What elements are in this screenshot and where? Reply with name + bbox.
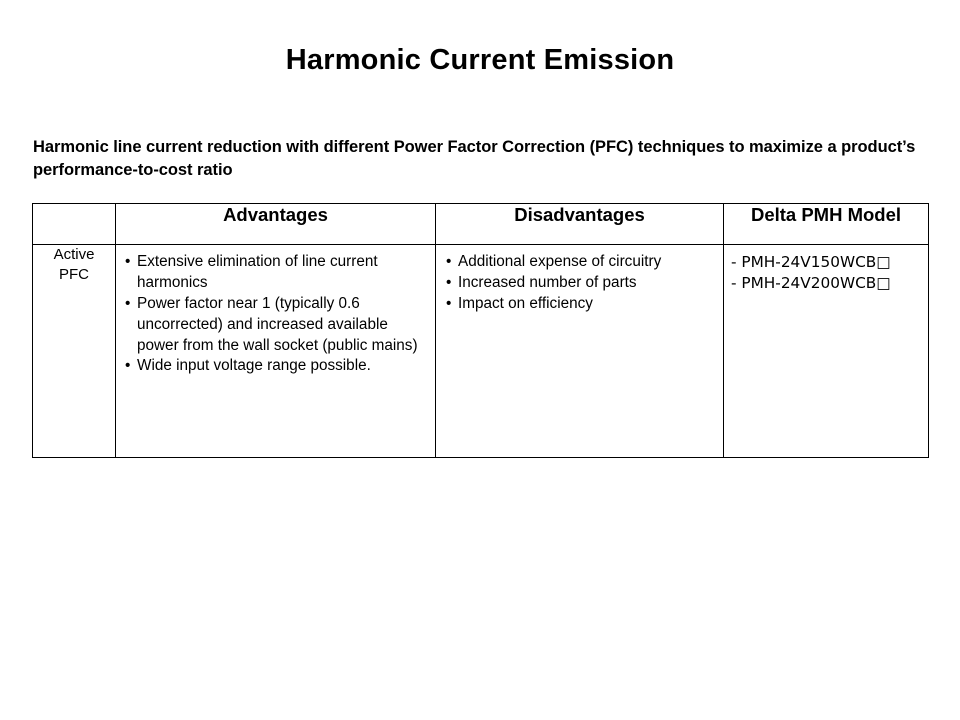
- header-cell-disadvantages: Disadvantages: [436, 204, 724, 245]
- list-item: Increased number of parts: [446, 273, 717, 294]
- cell-disadvantages: Additional expense of circuitry Increase…: [436, 245, 724, 458]
- slide-subtitle: Harmonic line current reduction with dif…: [33, 136, 923, 183]
- header-cell-blank: [33, 204, 116, 245]
- row-label-line-2: PFC: [33, 265, 115, 285]
- row-label-line-1: Active: [33, 245, 115, 265]
- list-item: Extensive elimination of line current ha…: [125, 252, 429, 294]
- pfc-comparison-table: Advantages Disadvantages Delta PMH Model…: [32, 203, 929, 458]
- advantages-list: Extensive elimination of line current ha…: [116, 245, 435, 377]
- table-row: Active PFC Extensive elimination of line…: [33, 245, 929, 458]
- list-item: Wide input voltage range possible.: [125, 356, 429, 377]
- header-cell-advantages: Advantages: [116, 204, 436, 245]
- disadvantages-list: Additional expense of circuitry Increase…: [436, 245, 723, 315]
- list-item: - PMH-24V150WCB□: [731, 252, 924, 273]
- page-title: Harmonic Current Emission: [0, 45, 960, 77]
- model-list: - PMH-24V150WCB□ - PMH-24V200WCB□: [724, 245, 928, 294]
- header-cell-delta-pmh-model: Delta PMH Model: [724, 204, 929, 245]
- table-header-row: Advantages Disadvantages Delta PMH Model: [33, 204, 929, 245]
- list-item: Power factor near 1 (typically 0.6 uncor…: [125, 294, 429, 357]
- cell-delta-pmh-model: - PMH-24V150WCB□ - PMH-24V200WCB□: [724, 245, 929, 458]
- cell-advantages: Extensive elimination of line current ha…: [116, 245, 436, 458]
- list-item: Impact on efficiency: [446, 294, 717, 315]
- list-item: Additional expense of circuitry: [446, 252, 717, 273]
- row-label-active-pfc: Active PFC: [33, 245, 116, 458]
- list-item: - PMH-24V200WCB□: [731, 273, 924, 294]
